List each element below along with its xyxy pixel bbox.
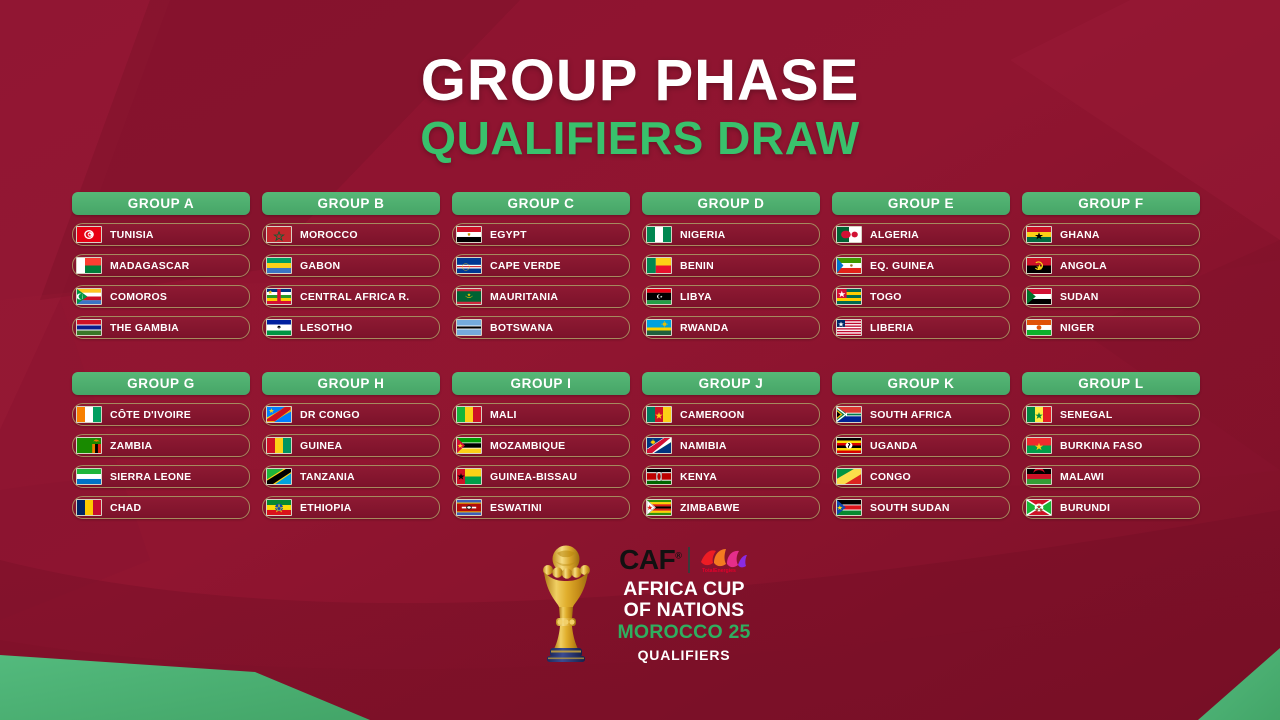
group-header-label: GROUP C	[508, 196, 575, 211]
team-row[interactable]: GUINEA-BISSAU	[452, 465, 630, 488]
team-row[interactable]: KENYA	[642, 465, 820, 488]
flag-burundi-icon	[1026, 499, 1052, 516]
team-row[interactable]: TUNISIA	[72, 223, 250, 246]
flag-guinea-icon	[266, 437, 292, 454]
team-name: NIGERIA	[680, 229, 726, 241]
team-name: SENEGAL	[1060, 409, 1113, 421]
team-name: NIGER	[1060, 322, 1095, 334]
team-row[interactable]: GHANA	[1022, 223, 1200, 246]
team-row[interactable]: ETHIOPIA	[262, 496, 440, 519]
team-name: ZIMBABWE	[680, 502, 740, 514]
flag-niger-icon	[1026, 319, 1052, 336]
team-name: MAURITANIA	[490, 291, 558, 303]
flag-namibia-icon	[646, 437, 672, 454]
groups-grid: GROUP ATUNISIAMADAGASCARCOMOROSTHE GAMBI…	[72, 192, 1212, 519]
group-header-f: GROUP F	[1022, 192, 1200, 215]
team-name: CAMEROON	[680, 409, 744, 421]
team-row[interactable]: BURKINA FASO	[1022, 434, 1200, 457]
group-header-g: GROUP G	[72, 372, 250, 395]
flag-chad-icon	[76, 499, 102, 516]
group-card: GROUP LSENEGALBURKINA FASOMALAWIBURUNDI	[1022, 372, 1200, 519]
flag-tanzania-icon	[266, 468, 292, 485]
flag-rwanda-icon	[646, 319, 672, 336]
team-row[interactable]: ALGERIA	[832, 223, 1010, 246]
team-row[interactable]: UGANDA	[832, 434, 1010, 457]
team-row[interactable]: ZAMBIA	[72, 434, 250, 457]
team-name: SUDAN	[1060, 291, 1099, 303]
flag-algeria-icon	[836, 226, 862, 243]
team-row[interactable]: MALAWI	[1022, 465, 1200, 488]
team-name: GUINEA-BISSAU	[490, 471, 577, 483]
svg-text:TotalEnergies: TotalEnergies	[702, 568, 736, 574]
flag-cote-divoire-icon	[76, 406, 102, 423]
team-name: GHANA	[1060, 229, 1100, 241]
team-name: LIBERIA	[870, 322, 914, 334]
team-name: LIBYA	[680, 291, 712, 303]
flag-tunisia-icon	[76, 226, 102, 243]
flag-lesotho-icon	[266, 319, 292, 336]
team-name: RWANDA	[680, 322, 729, 334]
flag-botswana-icon	[456, 319, 482, 336]
group-header-h: GROUP H	[262, 372, 440, 395]
team-name: KENYA	[680, 471, 717, 483]
team-row[interactable]: MADAGASCAR	[72, 254, 250, 277]
team-name: ZAMBIA	[110, 440, 152, 452]
team-row[interactable]: BOTSWANA	[452, 316, 630, 339]
flag-nigeria-icon	[646, 226, 672, 243]
team-row[interactable]: TANZANIA	[262, 465, 440, 488]
team-row[interactable]: SIERRA LEONE	[72, 465, 250, 488]
group-card: GROUP ATUNISIAMADAGASCARCOMOROSTHE GAMBI…	[72, 192, 250, 339]
group-header-label: GROUP J	[699, 376, 764, 391]
flag-ghana-icon	[1026, 226, 1052, 243]
team-row[interactable]: NIGERIA	[642, 223, 820, 246]
team-row[interactable]: MOZAMBIQUE	[452, 434, 630, 457]
flag-togo-icon	[836, 288, 862, 305]
group-header-label: GROUP A	[128, 196, 194, 211]
group-header-c: GROUP C	[452, 192, 630, 215]
team-name: EGYPT	[490, 229, 527, 241]
team-name: EQ. GUINEA	[870, 260, 934, 272]
team-row[interactable]: RWANDA	[642, 316, 820, 339]
group-header-l: GROUP L	[1022, 372, 1200, 395]
team-row[interactable]: EQ. GUINEA	[832, 254, 1010, 277]
logo-divider	[688, 547, 690, 573]
flag-cape-verde-icon	[456, 257, 482, 274]
flag-madagascar-icon	[76, 257, 102, 274]
team-name: THE GAMBIA	[110, 322, 179, 334]
team-name: NAMIBIA	[680, 440, 727, 452]
team-row[interactable]: SENEGAL	[1022, 403, 1200, 426]
group-card: GROUP HDR CONGOGUINEATANZANIAETHIOPIA	[262, 372, 440, 519]
team-name: CHAD	[110, 502, 141, 514]
group-card: GROUP EALGERIAEQ. GUINEATOGOLIBERIA	[832, 192, 1010, 339]
team-name: SOUTH SUDAN	[870, 502, 950, 514]
team-name: DR CONGO	[300, 409, 360, 421]
team-row[interactable]: EGYPT	[452, 223, 630, 246]
flag-eswatini-icon	[456, 499, 482, 516]
team-name: CENTRAL AFRICA R.	[300, 291, 409, 303]
flag-mauritania-icon	[456, 288, 482, 305]
group-header-b: GROUP B	[262, 192, 440, 215]
competition-line-2: OF NATIONS	[624, 600, 745, 621]
team-name: TOGO	[870, 291, 902, 303]
group-header-e: GROUP E	[832, 192, 1010, 215]
group-header-label: GROUP L	[1078, 376, 1143, 391]
team-name: MADAGASCAR	[110, 260, 190, 272]
group-header-i: GROUP I	[452, 372, 630, 395]
flag-gambia-icon	[76, 319, 102, 336]
team-row[interactable]: ZIMBABWE	[642, 496, 820, 519]
team-row[interactable]: LESOTHO	[262, 316, 440, 339]
team-row[interactable]: DR CONGO	[262, 403, 440, 426]
team-row[interactable]: NIGER	[1022, 316, 1200, 339]
flag-burkina-faso-icon	[1026, 437, 1052, 454]
group-card: GROUP FGHANAANGOLASUDANNIGER	[1022, 192, 1200, 339]
group-header-k: GROUP K	[832, 372, 1010, 395]
team-row[interactable]: CAPE VERDE	[452, 254, 630, 277]
team-row[interactable]: ESWATINI	[452, 496, 630, 519]
group-header-a: GROUP A	[72, 192, 250, 215]
flag-egypt-icon	[456, 226, 482, 243]
flag-dr-congo-icon	[266, 406, 292, 423]
team-name: MOROCCO	[300, 229, 358, 241]
flag-comoros-icon	[76, 288, 102, 305]
team-row[interactable]: BURUNDI	[1022, 496, 1200, 519]
group-header-label: GROUP K	[888, 376, 955, 391]
team-row[interactable]: MALI	[452, 403, 630, 426]
group-header-d: GROUP D	[642, 192, 820, 215]
team-name: GABON	[300, 260, 340, 272]
team-name: BENIN	[680, 260, 714, 272]
team-row[interactable]: CONGO	[832, 465, 1010, 488]
flag-guinea-bissau-icon	[456, 468, 482, 485]
title-subtitle: QUALIFIERS DRAW	[0, 114, 1280, 164]
team-name: MALI	[490, 409, 517, 421]
group-card: GROUP JCAMEROONNAMIBIAKENYAZIMBABWE	[642, 372, 820, 519]
flag-central-africa-icon	[266, 288, 292, 305]
flag-mali-icon	[456, 406, 482, 423]
team-name: CAPE VERDE	[490, 260, 561, 272]
title-main: GROUP PHASE	[0, 52, 1280, 110]
team-row[interactable]: GABON	[262, 254, 440, 277]
team-name: LESOTHO	[300, 322, 353, 334]
team-name: MOZAMBIQUE	[490, 440, 565, 452]
team-row[interactable]: CAMEROON	[642, 403, 820, 426]
team-name: BOTSWANA	[490, 322, 553, 334]
group-header-label: GROUP E	[888, 196, 954, 211]
team-name: ESWATINI	[490, 502, 542, 514]
team-row[interactable]: MAURITANIA	[452, 285, 630, 308]
team-row[interactable]: MOROCCO	[262, 223, 440, 246]
team-row[interactable]: TOGO	[832, 285, 1010, 308]
group-card: GROUP BMOROCCOGABONCENTRAL AFRICA R.LESO…	[262, 192, 440, 339]
flag-south-africa-icon	[836, 406, 862, 423]
flag-zambia-icon	[76, 437, 102, 454]
team-name: UGANDA	[870, 440, 918, 452]
flag-liberia-icon	[836, 319, 862, 336]
team-row[interactable]: SOUTH AFRICA	[832, 403, 1010, 426]
team-name: SIERRA LEONE	[110, 471, 191, 483]
flag-south-sudan-icon	[836, 499, 862, 516]
team-row[interactable]: SOUTH SUDAN	[832, 496, 1010, 519]
team-name: ETHIOPIA	[300, 502, 352, 514]
flag-gabon-icon	[266, 257, 292, 274]
team-name: BURKINA FASO	[1060, 440, 1143, 452]
flag-angola-icon	[1026, 257, 1052, 274]
flag-eq-guinea-icon	[836, 257, 862, 274]
team-row[interactable]: LIBYA	[642, 285, 820, 308]
stage-label: QUALIFIERS	[638, 646, 731, 664]
afcon-trophy-icon	[529, 545, 603, 665]
group-header-label: GROUP H	[318, 376, 385, 391]
flag-malawi-icon	[1026, 468, 1052, 485]
team-row[interactable]: LIBERIA	[832, 316, 1010, 339]
flag-cameroon-icon	[646, 406, 672, 423]
footer-branding: CAF® TotalEnergies AFRICA CUP OF NATIONS…	[0, 545, 1280, 665]
group-card: GROUP CEGYPTCAPE VERDEMAURITANIABOTSWANA	[452, 192, 630, 339]
group-card: GROUP KSOUTH AFRICAUGANDACONGOSOUTH SUDA…	[832, 372, 1010, 519]
group-header-label: GROUP B	[318, 196, 385, 211]
group-card: GROUP IMALIMOZAMBIQUEGUINEA-BISSAUESWATI…	[452, 372, 630, 519]
team-name: SOUTH AFRICA	[870, 409, 952, 421]
flag-zimbabwe-icon	[646, 499, 672, 516]
team-row[interactable]: SUDAN	[1022, 285, 1200, 308]
group-header-j: GROUP J	[642, 372, 820, 395]
team-name: MALAWI	[1060, 471, 1104, 483]
group-header-label: GROUP G	[127, 376, 195, 391]
host-year: MOROCCO 25	[617, 621, 750, 643]
team-name: BURUNDI	[1060, 502, 1110, 514]
group-card: GROUP DNIGERIABENINLIBYARWANDA	[642, 192, 820, 339]
flag-morocco-icon	[266, 226, 292, 243]
totalenergies-logo-icon: TotalEnergies	[697, 546, 749, 574]
group-header-label: GROUP I	[511, 376, 572, 391]
caf-sponsor-row: CAF® TotalEnergies	[619, 546, 749, 574]
flag-mozambique-icon	[456, 437, 482, 454]
team-row[interactable]: BENIN	[642, 254, 820, 277]
flag-kenya-icon	[646, 468, 672, 485]
team-name: CONGO	[870, 471, 911, 483]
team-row[interactable]: ANGOLA	[1022, 254, 1200, 277]
flag-benin-icon	[646, 257, 672, 274]
team-row[interactable]: CHAD	[72, 496, 250, 519]
flag-libya-icon	[646, 288, 672, 305]
caf-wordmark: CAF®	[619, 546, 681, 574]
group-header-label: GROUP F	[1078, 196, 1143, 211]
team-name: TUNISIA	[110, 229, 154, 241]
team-row[interactable]: THE GAMBIA	[72, 316, 250, 339]
group-card: GROUP GCÔTE D'IVOIREZAMBIASIERRA LEONECH…	[72, 372, 250, 519]
team-row[interactable]: COMOROS	[72, 285, 250, 308]
team-name: TANZANIA	[300, 471, 355, 483]
team-name: COMOROS	[110, 291, 167, 303]
team-row[interactable]: GUINEA	[262, 434, 440, 457]
team-row[interactable]: NAMIBIA	[642, 434, 820, 457]
page-title: GROUP PHASE QUALIFIERS DRAW	[0, 52, 1280, 164]
flag-sierra-leone-icon	[76, 468, 102, 485]
team-name: GUINEA	[300, 440, 342, 452]
team-row[interactable]: CENTRAL AFRICA R.	[262, 285, 440, 308]
team-name: ANGOLA	[1060, 260, 1107, 272]
flag-congo-icon	[836, 468, 862, 485]
group-header-label: GROUP D	[698, 196, 765, 211]
team-name: CÔTE D'IVOIRE	[110, 409, 191, 421]
flag-ethiopia-icon	[266, 499, 292, 516]
competition-line-1: AFRICA CUP	[623, 579, 745, 600]
team-name: ALGERIA	[870, 229, 919, 241]
team-row[interactable]: CÔTE D'IVOIRE	[72, 403, 250, 426]
flag-senegal-icon	[1026, 406, 1052, 423]
flag-uganda-icon	[836, 437, 862, 454]
flag-sudan-icon	[1026, 288, 1052, 305]
